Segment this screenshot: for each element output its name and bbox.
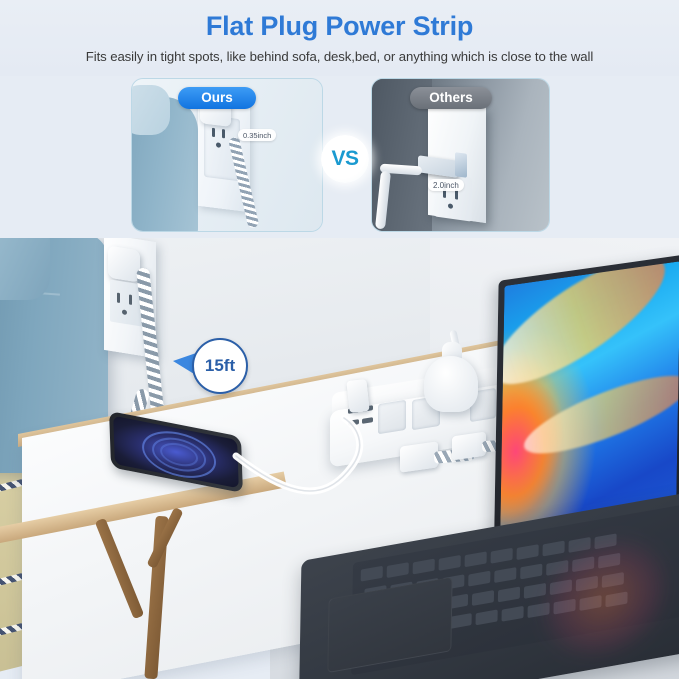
keyboard-color-glow (540, 525, 670, 670)
keyboard-key (413, 559, 435, 575)
flat-plug (108, 245, 140, 282)
comparison-panel-others: 2.0inch Others (371, 78, 550, 232)
keyboard-key (450, 613, 472, 629)
inserted-plug (400, 441, 438, 472)
inserted-plug (452, 432, 486, 461)
ours-sofa-arm-shape (131, 85, 170, 135)
outlet-slot-icon (222, 129, 225, 138)
wall-adapter (424, 356, 478, 412)
outlet-slot-icon (117, 293, 120, 303)
keyboard-key (387, 562, 409, 578)
lifestyle-scene (0, 238, 679, 679)
keyboard-key (491, 548, 513, 564)
badge-ours: Ours (178, 87, 256, 109)
strip-outlet (378, 400, 406, 434)
vs-label: VS (331, 147, 358, 171)
keyboard-key (465, 551, 487, 567)
sofa-armrest (0, 238, 50, 300)
comparison-panel-ours: 0.35inch Ours (131, 78, 323, 232)
inserted-plug (346, 379, 369, 413)
keyboard-key (517, 544, 539, 560)
keyboard-key (361, 566, 383, 582)
header-band: Flat Plug Power Strip Fits easily in tig… (0, 0, 679, 76)
keyboard-key (472, 590, 494, 606)
measurement-label-ours: 0.35inch (238, 129, 276, 141)
keyboard-key (439, 555, 461, 571)
measurement-label-others: 2.0inch (428, 179, 464, 191)
wallpaper-swoosh (519, 361, 679, 469)
outlet-ground-icon (216, 142, 221, 148)
outlet-ground-icon (448, 203, 453, 209)
keyboard-key (494, 567, 516, 583)
outlet-ground-icon (122, 309, 127, 315)
page-title: Flat Plug Power Strip (0, 11, 679, 42)
badge-others: Others (410, 87, 492, 109)
product-marketing-image: Flat Plug Power Strip Fits easily in tig… (0, 0, 679, 679)
page-subtitle: Fits easily in tight spots, like behind … (0, 49, 679, 64)
keyboard-key (498, 586, 520, 602)
vs-badge: VS (321, 135, 369, 183)
outlet-slot-icon (212, 128, 215, 137)
keyboard-key (476, 609, 498, 625)
others-plug-tip (455, 152, 467, 178)
keyboard-key (468, 571, 490, 587)
keyboard-key (501, 606, 523, 622)
cable-length-label: 15ft (205, 356, 235, 376)
cable-length-badge: 15ft (192, 338, 248, 394)
outlet-slot-icon (129, 294, 132, 304)
